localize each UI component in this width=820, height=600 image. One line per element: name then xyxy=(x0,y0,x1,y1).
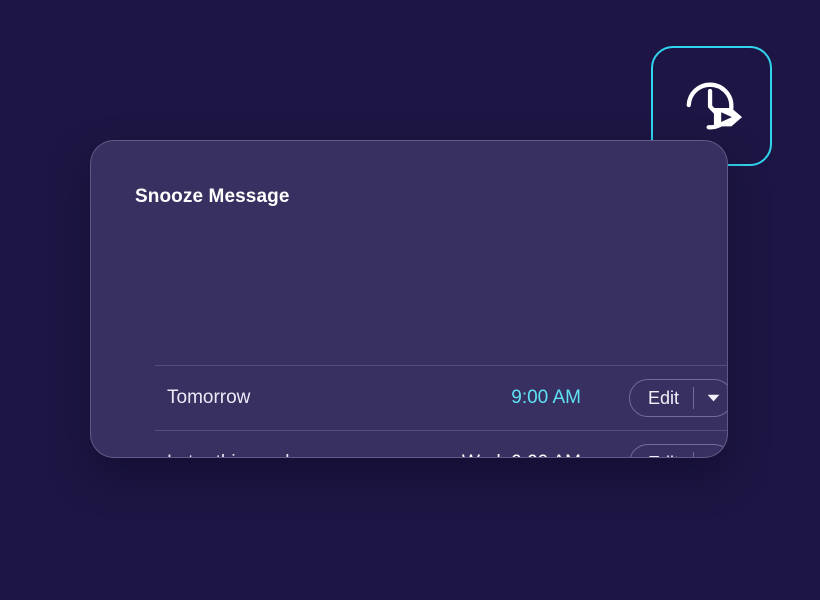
edit-button-label: Edit xyxy=(630,389,693,407)
edit-dropdown-toggle[interactable] xyxy=(694,394,728,402)
edit-split-button[interactable]: Edit xyxy=(629,379,728,417)
chevron-down-icon xyxy=(707,394,720,402)
clock-forward-icon xyxy=(681,75,743,137)
card-content: Snooze Message Tomorrow 9:00 AM Edit xyxy=(123,141,699,457)
option-value: Wed, 9:00 AM xyxy=(435,452,629,458)
screen: Snooze Message Tomorrow 9:00 AM Edit xyxy=(0,0,820,600)
option-label: Later this week xyxy=(167,452,435,458)
card-title: Snooze Message xyxy=(135,186,290,208)
snooze-option-row[interactable]: Later this week Wed, 9:00 AM Edit xyxy=(167,431,728,458)
option-value: 9:00 AM xyxy=(435,387,629,409)
option-label: Tomorrow xyxy=(167,387,435,409)
edit-button-label: Edit xyxy=(630,454,693,458)
edit-split-button[interactable]: Edit xyxy=(629,444,728,458)
snooze-option-row[interactable]: Tomorrow 9:00 AM Edit xyxy=(167,366,728,430)
edit-button-divider xyxy=(693,452,694,458)
snooze-message-card: Snooze Message Tomorrow 9:00 AM Edit xyxy=(90,140,728,458)
